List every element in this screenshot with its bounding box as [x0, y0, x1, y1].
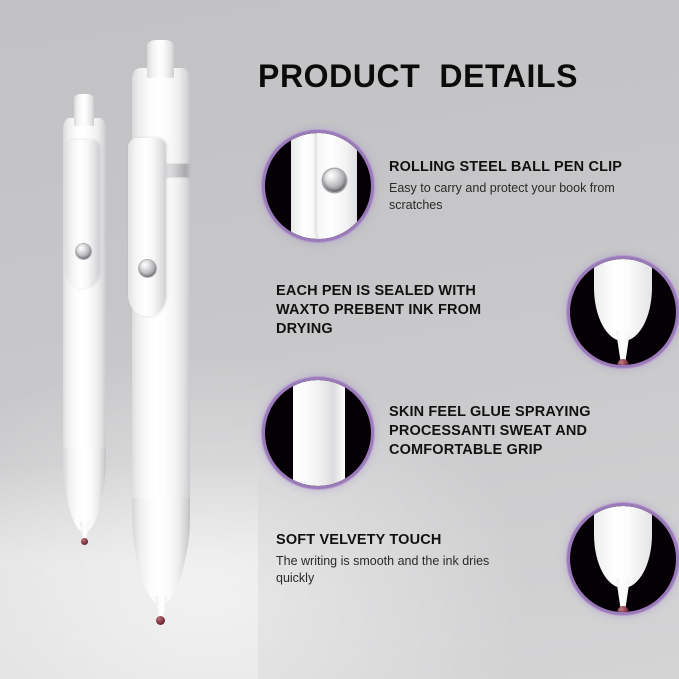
feature-text-velvety: SOFT VELVETY TOUCH The writing is smooth… — [276, 531, 521, 587]
pen-back-ink-ball — [81, 538, 88, 545]
pen-tip-closeup-icon — [570, 506, 676, 612]
feature-title: EACH PEN IS SEALED WITH WAXTO PREBENT IN… — [276, 282, 516, 339]
pen-back-clip — [66, 140, 99, 288]
feature-text-clip: ROLLING STEEL BALL PEN CLIP Easy to carr… — [389, 158, 669, 214]
feature-text-grip: SKIN FEEL GLUE SPRAYING PROCESSANTI SWEA… — [389, 403, 649, 463]
feature-row-grip: SKIN FEEL GLUE SPRAYING PROCESSANTI SWEA… — [265, 380, 675, 486]
feature-text-wax-seal: EACH PEN IS SEALED WITH WAXTO PREBENT IN… — [276, 282, 516, 342]
feature-row-wax-seal: EACH PEN IS SEALED WITH WAXTO PREBENT IN… — [276, 256, 676, 368]
pen-back-clip-steel-ball — [76, 244, 91, 259]
feature-title: SKIN FEEL GLUE SPRAYING PROCESSANTI SWEA… — [389, 403, 649, 460]
product-photo — [0, 0, 258, 679]
pen-clip-closeup-icon — [265, 133, 371, 239]
feature-title: SOFT VELVETY TOUCH — [276, 531, 521, 550]
pen-front-plunger — [147, 40, 174, 78]
pen-barrel-closeup-icon — [265, 380, 371, 486]
pen-back-nose — [63, 448, 106, 532]
pen-shadow-large — [0, 38, 150, 82]
pen-back-plunger — [74, 94, 94, 126]
pen-front — [132, 68, 190, 638]
feature-row-clip: ROLLING STEEL BALL PEN CLIP Easy to carr… — [265, 133, 675, 239]
pen-front-nose — [132, 498, 190, 604]
pen-back — [63, 118, 106, 550]
product-details-infographic: PRODUCT DETAILS ROLLING STEEL BALL PEN C… — [0, 0, 679, 679]
pen-shadow-small — [0, 0, 130, 38]
surface-reflection — [0, 464, 258, 679]
feature-body: Easy to carry and protect your book from… — [389, 180, 669, 215]
feature-row-velvety: SOFT VELVETY TOUCH The writing is smooth… — [276, 504, 676, 614]
feature-title: ROLLING STEEL BALL PEN CLIP — [389, 158, 669, 177]
pen-front-clip — [128, 138, 166, 316]
feature-body: The writing is smooth and the ink dries … — [276, 553, 521, 588]
pen-front-ink-ball — [156, 616, 165, 625]
page-title: PRODUCT DETAILS — [258, 58, 670, 95]
pen-front-clip-steel-ball — [139, 260, 156, 277]
pen-tip-closeup-icon — [570, 259, 676, 365]
